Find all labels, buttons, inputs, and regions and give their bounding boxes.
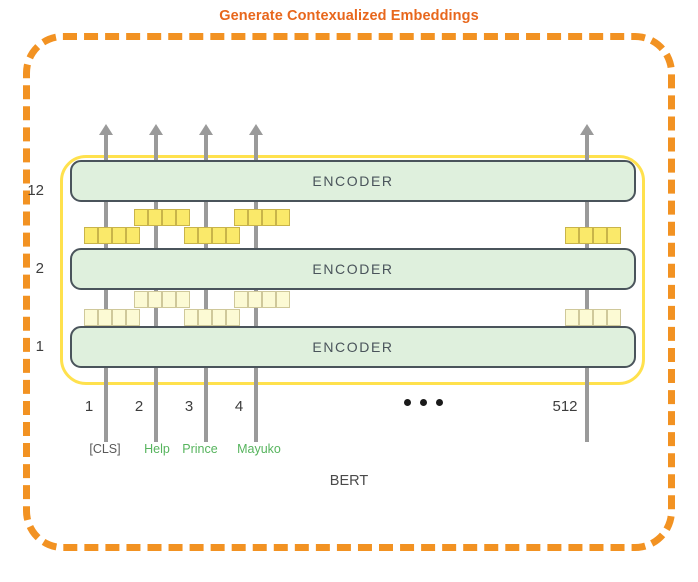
vector-cell: [184, 227, 198, 244]
layer-index-1: 1: [14, 338, 44, 355]
vector-cell: [276, 209, 290, 226]
encoder-label: ENCODER: [312, 339, 393, 355]
vector-cell: [234, 291, 248, 308]
arrow-shaft: [204, 133, 208, 162]
vector-cell: [262, 291, 276, 308]
layer-index-12: 12: [14, 182, 44, 199]
diagram-canvas: Generate Contexualized Embeddings ENCODE…: [0, 0, 698, 582]
vector-cell: [212, 309, 226, 326]
vector-cell: [148, 291, 162, 308]
vector-cell: [262, 209, 276, 226]
token-line-1: [104, 160, 108, 442]
position-index-3: 3: [178, 398, 200, 415]
hidden-vector-layer1-token2: [134, 291, 190, 308]
vector-cell: [198, 309, 212, 326]
vector-cell: [565, 227, 579, 244]
vector-cell: [176, 209, 190, 226]
vector-cell: [162, 209, 176, 226]
token-label-mayuko: Mayuko: [221, 442, 297, 456]
position-index-4: 4: [228, 398, 250, 415]
vector-cell: [607, 309, 621, 326]
vector-cell: [112, 309, 126, 326]
vector-cell: [84, 309, 98, 326]
vector-cell: [176, 291, 190, 308]
arrow-up-icon: [199, 124, 213, 162]
vector-cell: [98, 309, 112, 326]
vector-cell: [162, 291, 176, 308]
hidden-vector-layer2-token1: [84, 227, 140, 244]
arrow-up-icon: [149, 124, 163, 162]
encoder-label: ENCODER: [312, 173, 393, 189]
vector-cell: [212, 227, 226, 244]
position-index-1: 1: [78, 398, 100, 415]
vector-cell: [248, 209, 262, 226]
hidden-vector-layer2-token512: [565, 227, 621, 244]
encoder-layer-2[interactable]: ENCODER: [70, 248, 636, 290]
arrow-shaft: [585, 133, 589, 162]
vector-cell: [126, 309, 140, 326]
encoder-layer-12[interactable]: ENCODER: [70, 160, 636, 202]
arrow-up-icon: [99, 124, 113, 162]
arrow-shaft: [254, 133, 258, 162]
vector-cell: [276, 291, 290, 308]
token-line-512: [585, 160, 589, 442]
arrow-up-icon: [580, 124, 594, 162]
vector-cell: [184, 309, 198, 326]
vector-cell: [226, 309, 240, 326]
vector-cell: [198, 227, 212, 244]
hidden-vector-layer2-token3: [184, 227, 240, 244]
vector-cell: [248, 291, 262, 308]
vector-cell: [98, 227, 112, 244]
vector-cell: [579, 227, 593, 244]
ellipsis-dot: [404, 399, 411, 406]
vector-cell: [148, 209, 162, 226]
encoder-label: ENCODER: [312, 261, 393, 277]
hidden-vector-layer1-token512: [565, 309, 621, 326]
vector-cell: [126, 227, 140, 244]
hidden-vector-layer2-token4: [234, 209, 290, 226]
position-index-512: 512: [548, 398, 582, 415]
layer-index-2: 2: [14, 260, 44, 277]
hidden-vector-layer1-token4: [234, 291, 290, 308]
ellipsis-dot: [420, 399, 427, 406]
vector-cell: [593, 227, 607, 244]
vector-cell: [234, 209, 248, 226]
hidden-vector-layer1-token3: [184, 309, 240, 326]
ellipsis-dot: [436, 399, 443, 406]
ellipsis-icon: [404, 399, 443, 406]
vector-cell: [134, 291, 148, 308]
vector-cell: [579, 309, 593, 326]
hidden-vector-layer1-token1: [84, 309, 140, 326]
arrow-shaft: [104, 133, 108, 162]
vector-cell: [112, 227, 126, 244]
vector-cell: [593, 309, 607, 326]
arrow-up-icon: [249, 124, 263, 162]
encoder-layer-1[interactable]: ENCODER: [70, 326, 636, 368]
vector-cell: [226, 227, 240, 244]
vector-cell: [134, 209, 148, 226]
vector-cell: [565, 309, 579, 326]
position-index-2: 2: [128, 398, 150, 415]
page-title: Generate Contexualized Embeddings: [0, 8, 698, 24]
arrow-shaft: [154, 133, 158, 162]
model-name-label: BERT: [0, 473, 698, 489]
token-line-3: [204, 160, 208, 442]
vector-cell: [84, 227, 98, 244]
vector-cell: [607, 227, 621, 244]
hidden-vector-layer2-token2: [134, 209, 190, 226]
